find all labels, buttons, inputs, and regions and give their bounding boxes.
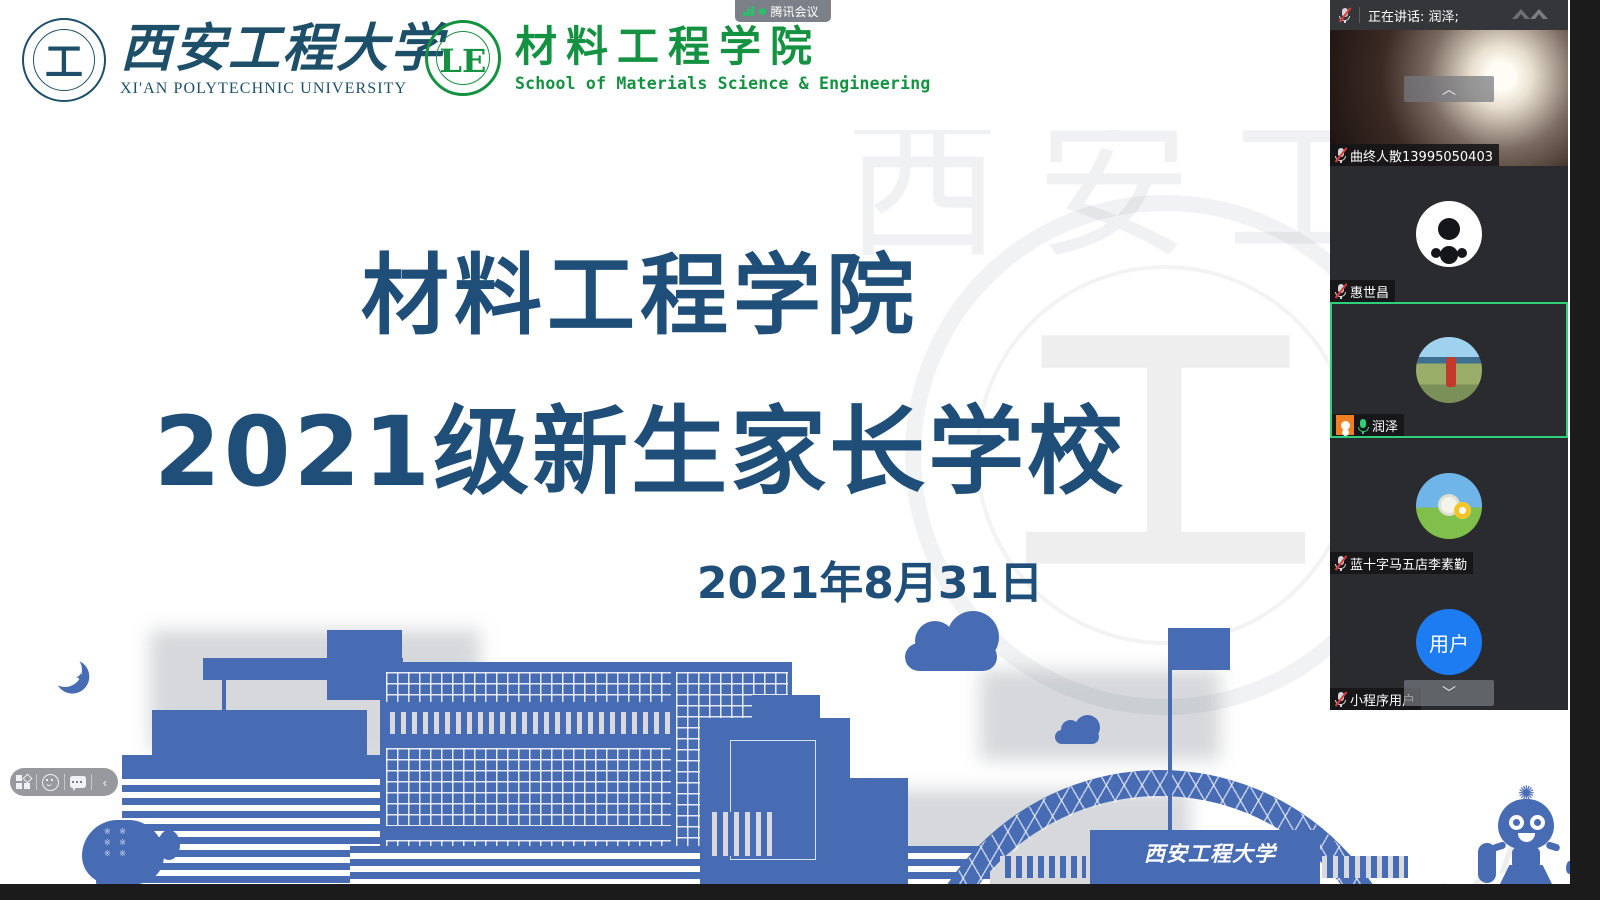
mic-muted-icon xyxy=(1334,691,1347,707)
mic-muted-icon xyxy=(1334,555,1347,571)
library-columns xyxy=(712,812,778,856)
participant-nametag: 蓝十字马五店李素勤 xyxy=(1330,552,1473,574)
mic-muted-icon xyxy=(1334,283,1347,299)
participant-list[interactable]: 曲终人散13995050403 惠世昌 润泽 xyxy=(1330,30,1568,710)
school-logo-text: 材料工程学院 School of Materials Science & Eng… xyxy=(515,21,931,95)
school-name-cn: 材料工程学院 xyxy=(515,21,931,73)
flag xyxy=(1172,628,1230,670)
screen-edge-right xyxy=(1570,0,1600,900)
library-annex xyxy=(850,778,908,884)
avatar xyxy=(1416,201,1482,267)
participant-name: 润泽 xyxy=(1372,416,1398,435)
gate-fence-right xyxy=(1322,856,1408,878)
floating-mini-toolbar[interactable]: ‹ xyxy=(10,768,118,796)
host-badge-icon xyxy=(1336,415,1354,435)
gate-label: 西安工程大学 xyxy=(1120,838,1300,868)
gate-fence-left xyxy=(1000,856,1086,878)
mascot-eye-left xyxy=(1509,815,1524,830)
scroll-down-button[interactable]: ﹀ xyxy=(1404,680,1494,706)
participant-nametag: 曲终人散13995050403 xyxy=(1330,144,1499,166)
mic-muted-icon xyxy=(1338,7,1351,23)
library-top xyxy=(752,695,820,725)
chevron-left-icon[interactable]: ‹ xyxy=(92,768,118,796)
school-logo: LE 材料工程学院 School of Materials Science & … xyxy=(425,20,931,96)
university-seal-icon: 工 xyxy=(22,18,106,102)
mascot-arm-right xyxy=(1545,841,1560,852)
avatar xyxy=(1416,473,1482,539)
mascot-eye-right xyxy=(1530,815,1545,830)
mascot-arm-left xyxy=(1491,841,1506,852)
bear-decor-text: ※ ※※ ※※ ※ xyxy=(104,826,154,859)
tencent-meeting-label: 腾讯会议 xyxy=(771,3,819,20)
star-icon: ✦ xyxy=(75,670,86,686)
participant-video-panel: 正在讲话: 润泽; 曲终人散13995050403 惠世昌 xyxy=(1330,0,1568,710)
university-logo-text: 西安工程大学 XI'AN POLYTECHNIC UNIVERSITY xyxy=(120,20,444,100)
cloud-large-icon xyxy=(905,643,997,671)
speaking-status-label: 正在讲话: 润泽; xyxy=(1368,6,1500,25)
participant-name: 惠世昌 xyxy=(1350,282,1389,301)
participant-nametag: 惠世昌 xyxy=(1330,280,1395,302)
participant-name: 曲终人散13995050403 xyxy=(1350,146,1493,165)
screen-root: 工 西安工程 X I ' A N P O L Y T E C H N I C U… xyxy=(0,0,1600,900)
scroll-up-button[interactable]: ︿ xyxy=(1404,76,1494,102)
emoji-smiley-icon[interactable] xyxy=(37,768,63,796)
header-divider xyxy=(1359,7,1360,23)
school-name-en: School of Materials Science & Engineerin… xyxy=(515,73,931,95)
mic-muted-icon xyxy=(1334,147,1347,163)
university-seal-glyph: 工 xyxy=(24,40,104,84)
window-vertical-bars xyxy=(390,712,670,734)
bear-figure-icon: ※ ※※ ※※ ※ xyxy=(72,820,182,884)
university-name-cn: 西安工程大学 xyxy=(120,20,444,78)
participant-tile[interactable]: 惠世昌 xyxy=(1330,166,1568,302)
mic-on-icon xyxy=(1357,418,1369,433)
slide-title-line2: 2021级新生家长学校 xyxy=(0,398,1280,506)
participant-tile[interactable]: 蓝十字马五店李素勤 xyxy=(1330,438,1568,574)
chat-bubble-icon[interactable] xyxy=(65,768,91,796)
window-grid xyxy=(386,672,671,702)
participant-name: 蓝十字马五店李素勤 xyxy=(1350,554,1467,573)
participant-nametag: 润泽 xyxy=(1332,414,1404,436)
participant-tile-active[interactable]: 润泽 xyxy=(1330,302,1568,438)
mascot-base xyxy=(1500,865,1552,884)
apps-grid-icon[interactable] xyxy=(10,768,36,796)
school-seal-glyph: LE xyxy=(428,41,498,81)
robot-mascot-icon: ✺ xyxy=(1490,785,1562,884)
school-seal-icon: LE xyxy=(425,20,501,96)
slide-title-line1: 材料工程学院 xyxy=(0,248,1280,344)
avatar xyxy=(1416,337,1482,403)
cloud-small-icon xyxy=(1055,730,1099,744)
video-panel-header: 正在讲话: 润泽; xyxy=(1330,0,1568,30)
screen-edge-bottom xyxy=(0,884,1600,900)
university-name-en: XI'AN POLYTECHNIC UNIVERSITY xyxy=(120,78,444,100)
building-plinth xyxy=(122,755,382,773)
signal-bars-icon xyxy=(743,6,754,16)
building-canopy xyxy=(203,658,403,680)
window-grid xyxy=(386,748,671,826)
shadow xyxy=(980,670,1220,760)
green-status-dot xyxy=(759,8,766,15)
tencent-meeting-logo xyxy=(1508,5,1560,25)
tencent-meeting-indicator[interactable]: 腾讯会议 xyxy=(735,0,831,22)
avatar-initials: 用户 xyxy=(1416,609,1482,675)
university-logo: 工 西安工程大学 XI'AN POLYTECHNIC UNIVERSITY xyxy=(22,18,444,102)
